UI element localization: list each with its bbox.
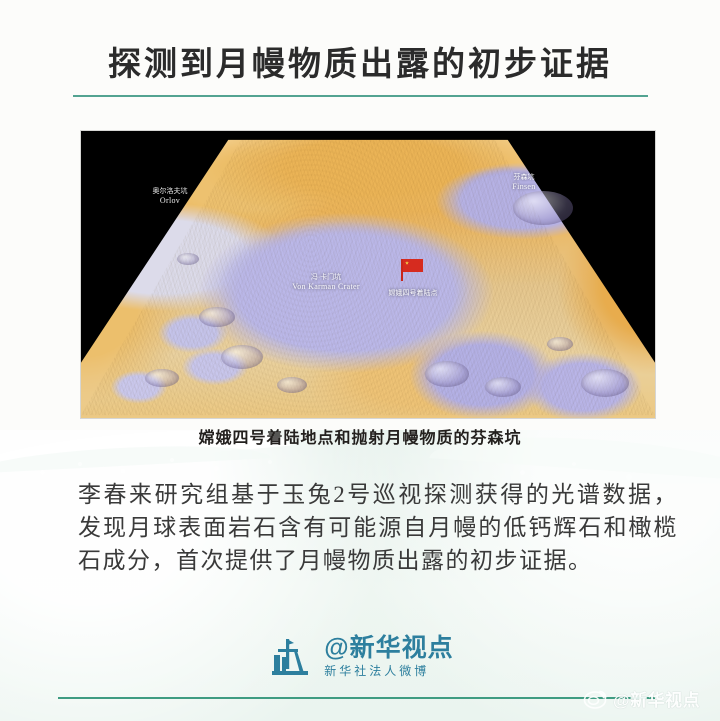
weibo-eye-icon [583,688,609,710]
terrain-figure: 奥尔洛夫坑 Orlov 芬森坑 Finsen 冯·卡门坑 Von Karman … [81,131,655,418]
xinhua-tower-icon [266,637,314,677]
terrain-image: 奥尔洛夫坑 Orlov 芬森坑 Finsen 冯·卡门坑 Von Karman … [81,131,655,418]
crater-shape [513,191,573,225]
spray-dot [214,466,219,471]
title-underline-rule [73,95,648,97]
crater-shape [581,369,629,397]
crater-shape [485,377,521,397]
weibo-watermark: @新华视点 [583,686,700,711]
brand-text-block: @新华视点 新华社法人微博 [324,636,453,677]
spray-dot [268,460,272,464]
spray-dot [572,462,576,466]
map-label-en: Von Karman Crater [292,282,360,291]
crater-shape [145,369,179,387]
brand-subtitle: 新华社法人微博 [324,665,429,677]
map-label-orlov: 奥尔洛夫坑 Orlov [135,187,205,206]
crater-shape [547,337,573,351]
footer-divider-rule [58,697,655,699]
spray-dot [78,462,82,466]
map-label-finsen: 芬森坑 Finsen [489,173,559,192]
map-label-en: Finsen [512,182,535,191]
page-title-container: 探测到月幔物质出露的初步证据 [0,44,720,84]
spray-dot [40,470,45,475]
map-label-landing-site: 嫦娥四号着陆点 [359,289,467,298]
figure-caption: 嫦娥四号着陆地点和抛射月幔物质的芬森坑 [0,424,720,448]
crater-shape [221,345,263,369]
china-flag-marker-icon [403,259,423,272]
map-label-cn: 嫦娥四号着陆点 [389,290,438,297]
crater-shape [277,377,307,393]
watermark-text: @新华视点 [613,686,700,711]
map-label-en: Orlov [160,196,180,205]
spray-dot [170,458,174,462]
crater-shape [199,307,235,327]
crater-shape [177,253,199,265]
map-label-cn: 芬森坑 [514,174,535,181]
crater-shape [425,361,469,387]
map-label-cn: 冯·卡门坑 [311,274,341,281]
brand-handle: @新华视点 [324,636,453,661]
spray-dot [520,470,525,475]
poster-page: 探测到月幔物质出露的初步证据 奥尔洛夫坑 Orlov 芬森坑 Finsen [0,0,720,721]
body-paragraph: 李春来研究组基于玉兔2号巡视探测获得的光谱数据，发现月球表面岩石含有可能源自月幔… [78,478,678,577]
footer-brand: @新华视点 新华社法人微博 [0,636,720,677]
spray-dot [120,468,126,474]
flag-star-icon [405,261,409,265]
page-title: 探测到月幔物质出露的初步证据 [0,44,720,84]
map-label-cn: 奥尔洛夫坑 [153,188,188,195]
